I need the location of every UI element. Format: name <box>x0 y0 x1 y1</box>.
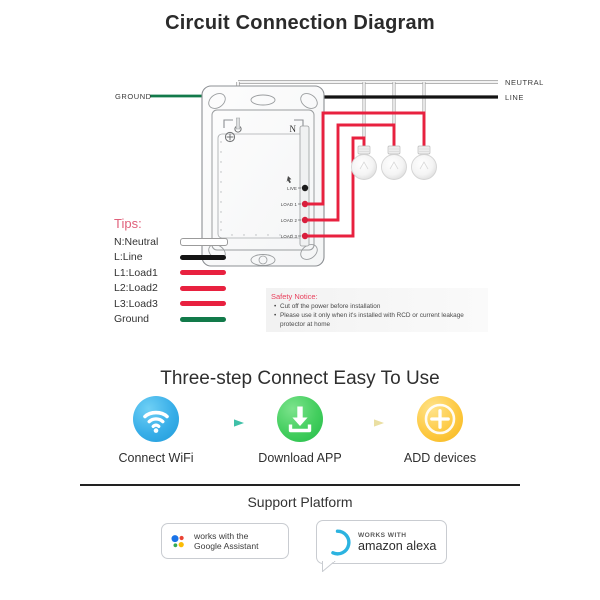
ground-label: GROUND <box>115 92 152 101</box>
three-step-row: Connect WiFi Download APP <box>0 396 600 491</box>
amazon-alexa-badge[interactable]: WORKS WITH amazon alexa <box>316 520 447 564</box>
three-step-heading: Three-step Connect Easy To Use <box>0 368 600 390</box>
google-badge-line2: Google Assistant <box>194 541 259 551</box>
safety-notice: Safety Notice: Cut off the power before … <box>266 288 488 332</box>
legend-row: L1:Load1 <box>114 265 254 281</box>
legend-label: L2:Load2 <box>114 282 180 294</box>
legend-swatch-neutral <box>180 238 228 246</box>
legend-swatch-load2 <box>180 286 226 291</box>
neutral-terminal-label: N <box>290 124 297 134</box>
safety-notice-item: Cut off the power before installation <box>280 303 484 311</box>
section-divider <box>80 484 520 486</box>
bulb-2 <box>382 146 407 180</box>
ground-symbol <box>225 132 234 141</box>
alexa-badge-tail <box>322 561 336 572</box>
support-badges: works with the Google Assistant WORKS WI… <box>0 523 600 585</box>
three-step-section: Three-step Connect Easy To Use <box>0 368 600 491</box>
google-assistant-icon <box>170 533 187 550</box>
legend-label: L:Line <box>114 251 180 263</box>
live-terminal-label: LIVE <box>287 186 297 191</box>
neutral-label: NEUTRAL <box>505 78 544 87</box>
legend-row: L2:Load2 <box>114 281 254 297</box>
legend-row: Ground <box>114 312 254 328</box>
support-platform-heading: Support Platform <box>0 494 600 510</box>
legend-label: L3:Load3 <box>114 298 180 310</box>
google-badge-line1: works with the <box>194 531 259 541</box>
safety-notice-item: Please use it only when it's installed w… <box>280 312 484 329</box>
load2-terminal-label: LOAD 2 <box>281 218 298 223</box>
legend-swatch-line <box>180 255 226 260</box>
page-title: Circuit Connection Diagram <box>0 12 600 35</box>
alexa-badge-text: WORKS WITH amazon alexa <box>358 532 436 553</box>
step-add-devices[interactable]: ADD devices <box>365 396 515 465</box>
legend-row: N:Neutral <box>114 234 254 250</box>
alexa-badge-line1: WORKS WITH <box>358 532 436 539</box>
plus-icon <box>417 396 463 442</box>
step-download-app[interactable]: Download APP <box>225 396 375 465</box>
load3-terminal-label: LOAD 3 <box>281 234 298 239</box>
legend-swatch-ground <box>180 317 226 322</box>
load1-terminal-label: LOAD 1 <box>281 202 298 207</box>
bulb-1 <box>352 146 377 180</box>
safety-notice-heading: Safety Notice: <box>266 288 488 303</box>
download-icon <box>277 396 323 442</box>
tips-heading: Tips: <box>114 216 254 231</box>
legend-row: L3:Load3 <box>114 296 254 312</box>
legend-row: L:Line <box>114 250 254 266</box>
step-label: Download APP <box>225 451 375 465</box>
legend-swatch-load3 <box>180 301 226 306</box>
step-connect-wifi[interactable]: Connect WiFi <box>81 396 231 465</box>
wifi-icon <box>133 396 179 442</box>
safety-notice-list: Cut off the power before installation Pl… <box>266 303 488 329</box>
alexa-badge-line2: amazon alexa <box>358 539 436 553</box>
legend-label: L1:Load1 <box>114 267 180 279</box>
step-label: Connect WiFi <box>81 451 231 465</box>
google-badge-text: works with the Google Assistant <box>194 531 259 551</box>
step-label: ADD devices <box>365 451 515 465</box>
support-platform-section: Support Platform works with the Google A… <box>0 494 600 585</box>
line-label: LINE <box>505 93 524 102</box>
circuit-connection-infographic: Circuit Connection Diagram <box>0 0 600 600</box>
legend-swatch-load1 <box>180 270 226 275</box>
bulb-3 <box>412 146 437 180</box>
google-assistant-badge[interactable]: works with the Google Assistant <box>161 523 289 559</box>
tips-legend: Tips: N:Neutral L:Line L1:Load1 L2:Load2… <box>114 216 254 327</box>
alexa-ring-icon <box>324 529 351 556</box>
legend-label: N:Neutral <box>114 236 180 248</box>
legend-label: Ground <box>114 313 180 325</box>
